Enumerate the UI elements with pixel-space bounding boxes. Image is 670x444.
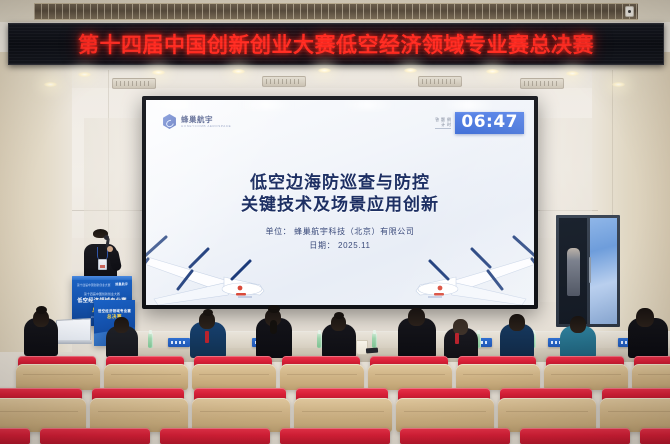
- theater-seat[interactable]: [280, 364, 364, 390]
- podium-event-line: 第十四届中国创新创业大赛: [72, 292, 132, 296]
- countdown-timer: 答 题 倒 计 时 06:47: [435, 112, 524, 134]
- timer-label-line2: 计 时: [435, 122, 451, 127]
- theater-seat[interactable]: [600, 398, 670, 432]
- ceiling-wood-baffle: [34, 3, 638, 20]
- door-glass-right: [590, 218, 617, 324]
- led-banner-text: 第十四届中国创新创业大赛低空经济领域专业赛总决赛: [9, 29, 663, 59]
- ceiling-spotlight: [318, 68, 331, 73]
- slide-title-line2: 关键技术及场景应用创新: [146, 194, 534, 216]
- laptop-base: [53, 340, 92, 344]
- seat-cushion[interactable]: [640, 428, 670, 444]
- ceiling-spotlight: [612, 82, 625, 87]
- theater-seat[interactable]: [192, 398, 290, 432]
- slide-surface: 蜂巢航宇 HONEYCOMB AEROSPACE 答 题 倒 计 时 06:47…: [146, 100, 534, 305]
- theater-seat[interactable]: [0, 398, 86, 432]
- seat-cushion[interactable]: [160, 428, 270, 444]
- led-banner: 第十四届中国创新创业大赛低空经济领域专业赛总决赛: [8, 23, 664, 65]
- seat-cushion[interactable]: [0, 428, 30, 444]
- seat-cushion[interactable]: [400, 428, 510, 444]
- nameplate: [168, 338, 190, 347]
- door-handle[interactable]: [589, 257, 591, 283]
- ceiling-spotlight: [566, 71, 579, 76]
- side-glass-door[interactable]: [556, 215, 620, 327]
- ceiling-air-vent: [418, 76, 462, 87]
- theater-seat[interactable]: [544, 364, 628, 390]
- drone-illustration-right: [398, 215, 534, 305]
- rollup-line1: 低空经济领域专业赛: [94, 308, 135, 313]
- theater-seat[interactable]: [632, 364, 670, 390]
- seat-cushion[interactable]: [520, 428, 630, 444]
- timer-value: 06:47: [455, 112, 524, 134]
- smartphone: [366, 348, 378, 354]
- door-glass-left: [559, 218, 587, 324]
- seat-cushion[interactable]: [280, 428, 390, 444]
- ceiling-air-vent: [520, 78, 564, 89]
- theater-seat[interactable]: [104, 364, 188, 390]
- person-behind-door: [567, 248, 580, 296]
- drone-illustration-left: [146, 215, 282, 305]
- conference-hall-photo: 第十四届中国创新创业大赛低空经济领域专业赛总决赛 蜂巢航宇 HONEYCOMB …: [0, 0, 670, 444]
- ceiling-spotlight: [152, 70, 165, 75]
- slide-title: 低空边海防巡查与防控 关键技术及场景应用创新: [146, 172, 534, 216]
- ceiling-air-vent: [262, 76, 306, 87]
- hexagon-logo-icon: [162, 114, 177, 129]
- ceiling-air-vent: [112, 78, 156, 89]
- ceiling-spotlight: [232, 69, 245, 74]
- theater-seat[interactable]: [368, 364, 452, 390]
- company-logo-name: 蜂巢航宇: [181, 116, 231, 124]
- ceiling-spotlight: [78, 72, 91, 77]
- theater-seat[interactable]: [396, 398, 494, 432]
- presenter-badge: [98, 259, 107, 270]
- theater-seat[interactable]: [192, 364, 276, 390]
- theater-seat[interactable]: [498, 398, 596, 432]
- company-logo-subtext: HONEYCOMB AEROSPACE: [181, 125, 231, 128]
- theater-seat[interactable]: [16, 364, 100, 390]
- presentation-screen: 蜂巢航宇 HONEYCOMB AEROSPACE 答 题 倒 计 时 06:47…: [142, 96, 538, 309]
- podium-small-right: 蜂巢航宇: [115, 282, 128, 286]
- podium-small-left: 第十四届中国创新创业大赛: [77, 283, 111, 287]
- ceiling-camera-icon: [625, 6, 634, 17]
- microphone-head-icon: [104, 235, 109, 240]
- theater-seat[interactable]: [456, 364, 540, 390]
- screen-reflection: [146, 100, 534, 110]
- company-logo: 蜂巢航宇 HONEYCOMB AEROSPACE: [162, 114, 231, 129]
- water-bottle: [148, 333, 153, 348]
- water-bottle: [372, 333, 377, 348]
- seat-cushion[interactable]: [40, 428, 150, 444]
- ceiling-spotlight: [44, 82, 57, 87]
- podium-top-edge: [72, 276, 132, 280]
- ceiling-spotlight: [486, 69, 499, 74]
- ceiling-spotlight: [404, 68, 417, 73]
- slide-title-line1: 低空边海防巡查与防控: [146, 172, 534, 194]
- presenter-hand: [107, 246, 113, 252]
- timer-label: 答 题 倒 计 时: [435, 117, 451, 129]
- theater-seat[interactable]: [294, 398, 392, 432]
- theater-seat[interactable]: [90, 398, 188, 432]
